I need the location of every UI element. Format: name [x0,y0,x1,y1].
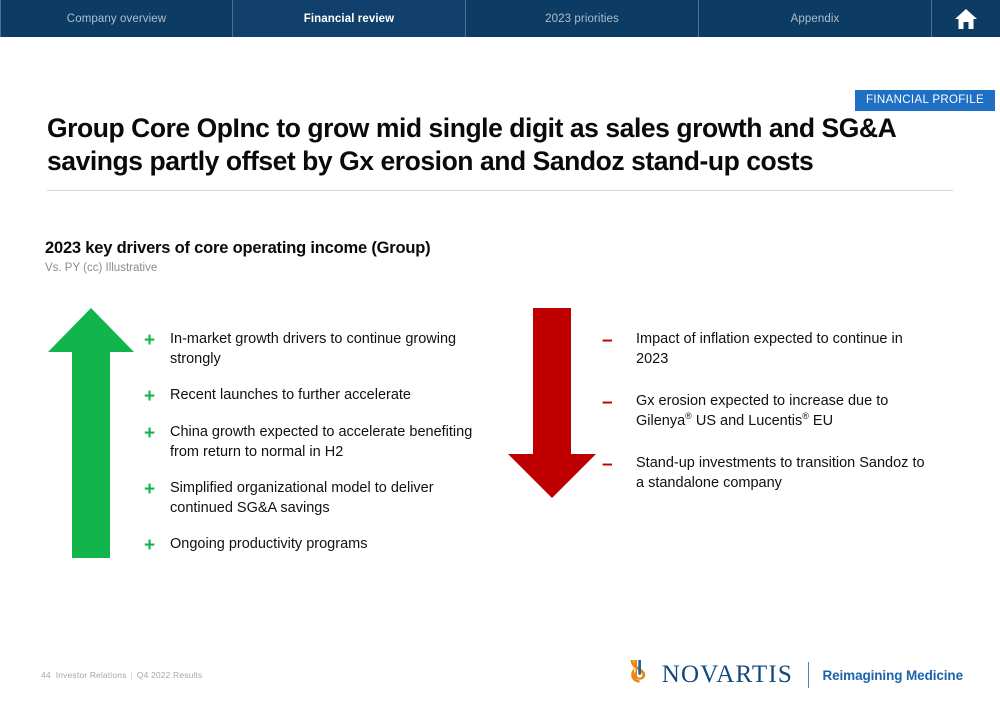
list-item-text-part: EU [809,413,833,429]
status-badge: FINANCIAL PROFILE [855,90,995,111]
footer-separator: | [131,670,133,680]
home-button[interactable] [932,0,1000,37]
nav-tab-label: 2023 priorities [545,13,619,25]
section-title: 2023 key drivers of core operating incom… [45,239,430,258]
logo-wordmark: NOVARTIS [662,661,793,689]
arrow-up-icon [48,308,134,558]
title-divider [47,190,953,191]
negative-drivers-list: – Impact of inflation expected to contin… [602,330,932,516]
nav-tab-financial-review[interactable]: Financial review [233,0,466,37]
footer-event: Q4 2022 Results [137,670,203,680]
logo-tagline: Reimagining Medicine [822,668,963,683]
list-item-text-part: US and Lucentis [692,413,802,429]
nav-tab-label: Company overview [67,13,166,25]
minus-marker-icon: – [602,392,636,412]
page-number: 44 [41,670,51,680]
list-item: + Simplified organizational model to del… [144,479,474,518]
list-item-label: In-market growth drivers to continue gro… [170,330,474,369]
plus-marker-icon: + [144,479,170,499]
nav-tab-appendix[interactable]: Appendix [699,0,932,37]
nav-tab-company-overview[interactable]: Company overview [0,0,233,37]
list-item-label: Recent launches to further accelerate [170,386,474,406]
positive-drivers-list: + In-market growth drivers to continue g… [144,330,474,572]
list-item-label: Stand-up investments to transition Sando… [636,454,932,493]
nav-tab-label: Financial review [304,13,394,25]
list-item: + Recent launches to further accelerate [144,386,474,406]
list-item-label: Ongoing productivity programs [170,535,474,555]
home-icon [954,8,978,30]
plus-marker-icon: + [144,386,170,406]
logo-divider [808,662,810,688]
plus-marker-icon: + [144,535,170,555]
section-subtitle: Vs. PY (cc) Illustrative [45,262,157,274]
minus-marker-icon: – [602,330,636,350]
plus-marker-icon: + [144,330,170,350]
page-title: Group Core OpInc to grow mid single digi… [47,112,967,178]
list-item-label: Simplified organizational model to deliv… [170,479,474,518]
list-item: – Impact of inflation expected to contin… [602,330,932,369]
nav-tab-2023-priorities[interactable]: 2023 priorities [466,0,699,37]
novartis-logo: NOVARTIS Reimagining Medicine [626,660,963,690]
list-item: + China growth expected to accelerate be… [144,423,474,462]
list-item: – Gx erosion expected to increase due to… [602,392,932,431]
registered-mark-icon: ® [685,411,692,421]
top-navigation-bar: Company overview Financial review 2023 p… [0,0,1000,37]
minus-marker-icon: – [602,454,636,474]
novartis-flame-icon [626,660,653,690]
arrow-down-icon [508,308,596,498]
list-item-label: Gx erosion expected to increase due to G… [636,392,932,431]
footer-meta: 44Investor Relations|Q4 2022 Results [41,670,202,680]
list-item-label: China growth expected to accelerate bene… [170,423,474,462]
list-item: + Ongoing productivity programs [144,535,474,555]
plus-marker-icon: + [144,423,170,443]
registered-mark-icon: ® [802,411,809,421]
footer-source: Investor Relations [56,670,127,680]
nav-tab-label: Appendix [791,13,840,25]
list-item: – Stand-up investments to transition San… [602,454,932,493]
list-item-label: Impact of inflation expected to continue… [636,330,932,369]
list-item: + In-market growth drivers to continue g… [144,330,474,369]
